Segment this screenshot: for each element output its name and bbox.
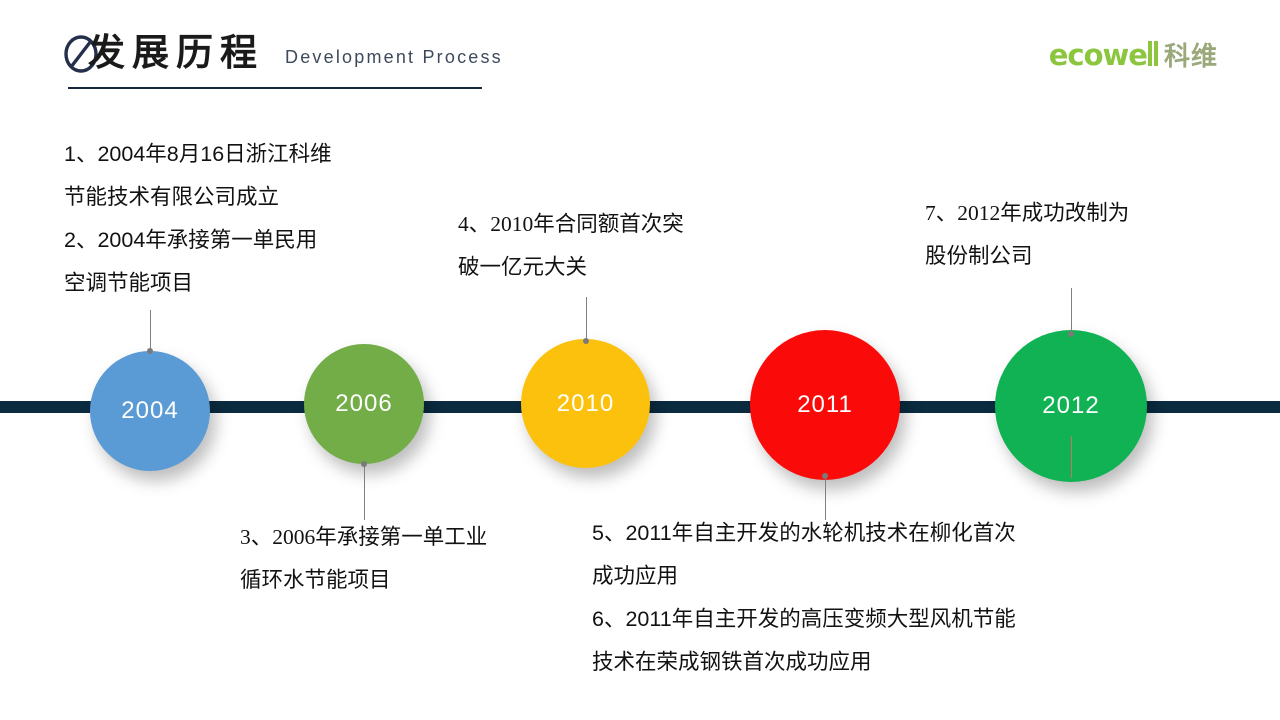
brand-logo: ecowe 科维 — [1049, 36, 1218, 73]
page-subtitle: Development Process — [285, 45, 503, 69]
slide-root: 发展历程 Development Process ecowe 科维 2004 2… — [0, 0, 1280, 720]
note-item-3: 3、2006年承接第一单工业 循环水节能项目 — [240, 516, 600, 602]
connector-2004 — [150, 310, 151, 352]
connector-dot-2006 — [361, 461, 367, 467]
page-title: 发展历程 — [88, 30, 264, 76]
timeline-node-label: 2004 — [121, 399, 178, 423]
timeline-node-label: 2010 — [557, 392, 614, 416]
connector-2012 — [1071, 288, 1072, 336]
note-items-1-2: 1、2004年8月16日浙江科维 节能技术有限公司成立 2、2004年承接第一单… — [64, 133, 464, 305]
header-divider — [68, 87, 482, 89]
timeline-node-2011[interactable]: 2011 — [750, 330, 900, 480]
connector-2010 — [586, 297, 587, 343]
connector-dot-2011 — [822, 473, 828, 479]
note-items-5-6: 5、2011年自主开发的水轮机技术在柳化首次 成功应用 6、2011年自主开发的… — [592, 512, 1172, 684]
connector-dot-2010 — [583, 338, 589, 344]
note-item-4: 4、2010年合同额首次突 破一亿元大关 — [458, 203, 778, 289]
timeline-node-label: 2012 — [1042, 394, 1099, 418]
logo-chinese-name: 科维 — [1164, 36, 1218, 73]
connector-2012-inner — [1071, 436, 1072, 478]
timeline-node-2006[interactable]: 2006 — [304, 344, 424, 464]
connector-dot-2004 — [147, 348, 153, 354]
note-item-7: 7、2012年成功改制为 股份制公司 — [925, 192, 1225, 278]
timeline-node-label: 2011 — [797, 393, 853, 417]
timeline-node-2010[interactable]: 2010 — [521, 339, 650, 468]
timeline-node-label: 2006 — [335, 392, 392, 416]
connector-2006 — [364, 464, 365, 520]
connector-dot-2012 — [1068, 331, 1074, 337]
logo-double-bar-icon — [1148, 41, 1159, 66]
timeline-node-2004[interactable]: 2004 — [90, 351, 210, 471]
logo-wordmark: ecowe — [1049, 38, 1147, 72]
